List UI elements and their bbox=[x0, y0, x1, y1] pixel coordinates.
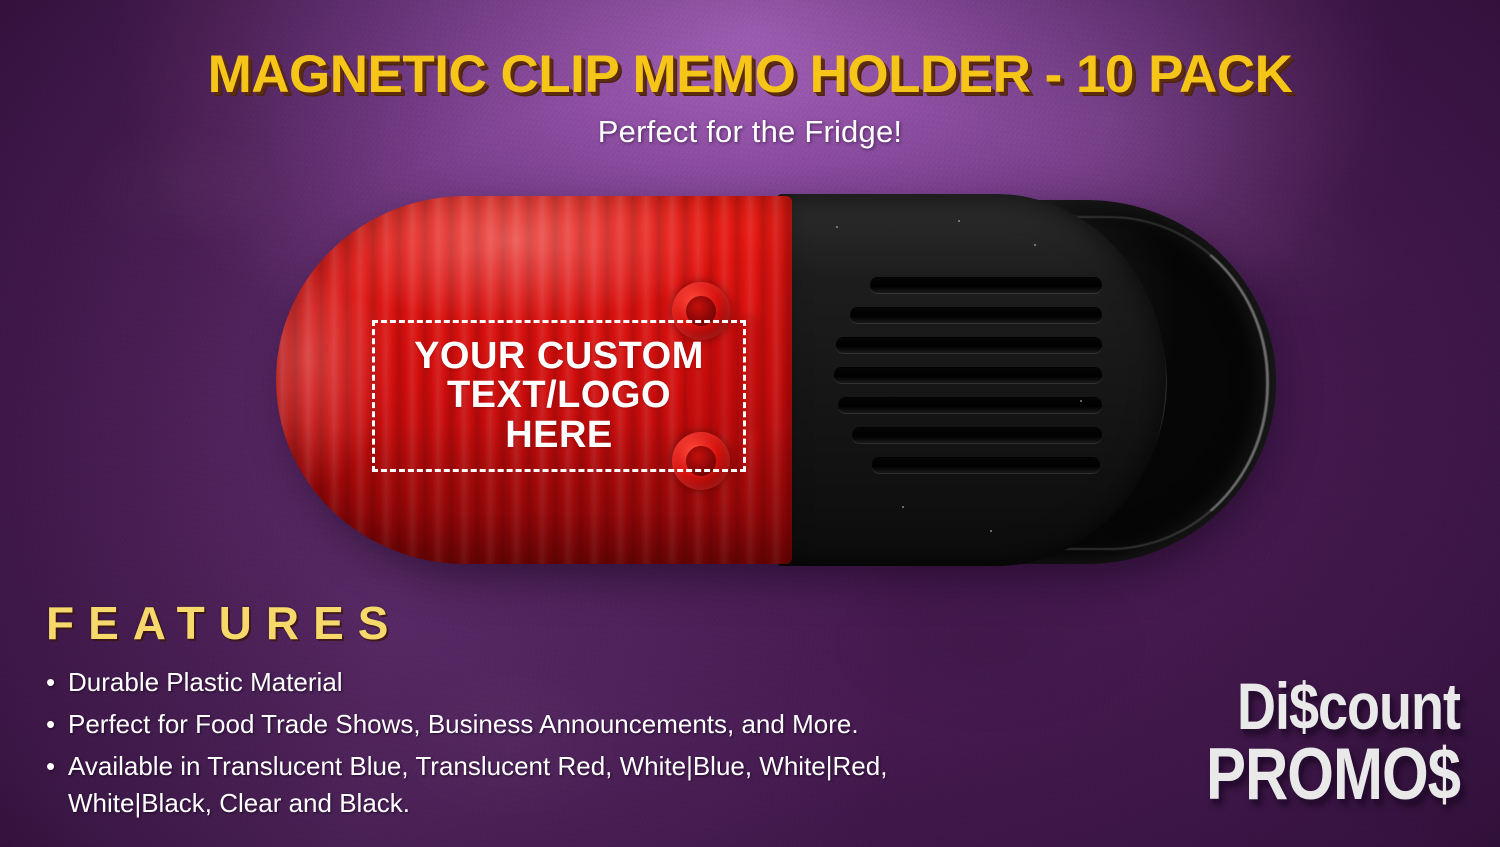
list-item: Available in Translucent Blue, Transluce… bbox=[46, 748, 948, 822]
product-banner: MAGNETIC CLIP MEMO HOLDER - 10 PACK Perf… bbox=[0, 0, 1500, 847]
brand-logo-line-1: Di$count bbox=[1206, 676, 1460, 741]
brand-logo: Di$count PROMO$ bbox=[1206, 687, 1460, 811]
brand-logo-line-2: PROMO$ bbox=[1206, 739, 1460, 811]
imprint-line-1: YOUR CUSTOM bbox=[414, 337, 704, 377]
imprint-line-3: HERE bbox=[505, 416, 613, 456]
page-subtitle: Perfect for the Fridge! bbox=[0, 114, 1500, 150]
grip-ridges bbox=[834, 278, 1102, 490]
banner-header: MAGNETIC CLIP MEMO HOLDER - 10 PACK Perf… bbox=[0, 44, 1500, 150]
imprint-area-callout: YOUR CUSTOM TEXT/LOGO HERE bbox=[372, 320, 746, 472]
features-heading: FEATURES bbox=[46, 596, 948, 650]
clip-black-grip: CHINA bbox=[776, 194, 1166, 566]
features-list: Durable Plastic Material Perfect for Foo… bbox=[46, 664, 948, 822]
imprint-line-2: TEXT/LOGO bbox=[447, 376, 671, 416]
page-title: MAGNETIC CLIP MEMO HOLDER - 10 PACK bbox=[0, 44, 1500, 105]
features-section: FEATURES Durable Plastic Material Perfec… bbox=[46, 596, 948, 827]
list-item: Perfect for Food Trade Shows, Business A… bbox=[46, 706, 948, 743]
list-item: Durable Plastic Material bbox=[46, 664, 948, 701]
